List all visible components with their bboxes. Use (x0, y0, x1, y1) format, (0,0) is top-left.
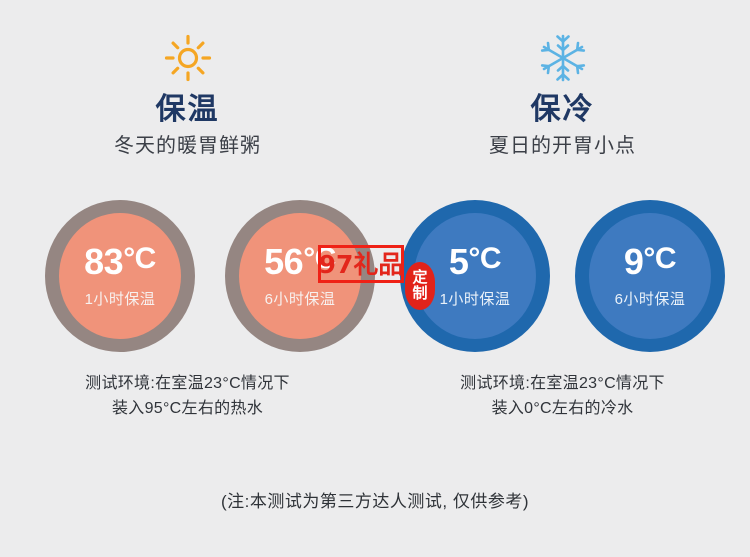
header-subtitle-warm: 冬天的暖胃鲜粥 (114, 135, 261, 157)
temperature-unit-3: °C (468, 242, 501, 275)
infographic-root: 保温 冬天的暖胃鲜粥 (0, 0, 750, 557)
temperature-circle-4: 9°C 6小时保温 (575, 200, 725, 352)
header-title-warm: 保温 (156, 94, 220, 126)
temperature-number-3: 5 (449, 241, 469, 282)
sun-icon (163, 32, 213, 84)
caption-row: 测试环境:在室温23°C情况下 装入95°C左右的热水 测试环境:在室温23°C… (0, 372, 750, 422)
header-title-cold: 保冷 (531, 94, 595, 126)
temperature-number-1: 83 (84, 241, 123, 282)
watermark-97gift-box: 97礼品 (318, 245, 404, 283)
temperature-unit-4: °C (643, 242, 676, 275)
watermark-97gift-text: 97礼品 (319, 252, 404, 277)
header-subtitle-cold: 夏日的开胃小点 (489, 135, 636, 157)
temperature-value-1: 83°C (84, 244, 156, 280)
watermark-custom-stamp: 定 制 (405, 262, 435, 310)
footnote-text: (注:本测试为第三方达人测试, 仅供参考) (0, 487, 750, 512)
duration-label-3: 1小时保温 (440, 288, 511, 309)
caption-warm-line1: 测试环境:在室温23°C情况下 (0, 372, 375, 397)
duration-label-1: 1小时保温 (85, 288, 156, 309)
temperature-circle-1: 83°C 1小时保温 (45, 200, 195, 352)
circle-inner-fill-4: 9°C 6小时保温 (589, 213, 711, 339)
watermark-stamp-char-2: 制 (412, 286, 427, 302)
caption-cold-line1: 测试环境:在室温23°C情况下 (375, 372, 750, 397)
circle-inner-fill-1: 83°C 1小时保温 (59, 213, 181, 339)
watermark-stamp-char-1: 定 (412, 270, 427, 286)
temperature-value-4: 9°C (624, 244, 676, 280)
header-column-cold: 保冷 夏日的开胃小点 (375, 0, 750, 190)
temperature-number-4: 9 (624, 241, 644, 282)
caption-warm: 测试环境:在室温23°C情况下 装入95°C左右的热水 (0, 372, 375, 422)
duration-label-4: 6小时保温 (615, 288, 686, 309)
caption-cold: 测试环境:在室温23°C情况下 装入0°C左右的冷水 (375, 372, 750, 422)
caption-warm-line2: 装入95°C左右的热水 (0, 397, 375, 422)
temperature-value-3: 5°C (449, 244, 501, 280)
caption-cold-line2: 装入0°C左右的冷水 (375, 397, 750, 422)
header-column-warm: 保温 冬天的暖胃鲜粥 (0, 0, 375, 190)
temperature-unit-1: °C (123, 242, 156, 275)
header-row: 保温 冬天的暖胃鲜粥 (0, 0, 750, 190)
snowflake-icon (538, 32, 588, 84)
temperature-number-2: 56 (264, 241, 303, 282)
duration-label-2: 6小时保温 (265, 288, 336, 309)
